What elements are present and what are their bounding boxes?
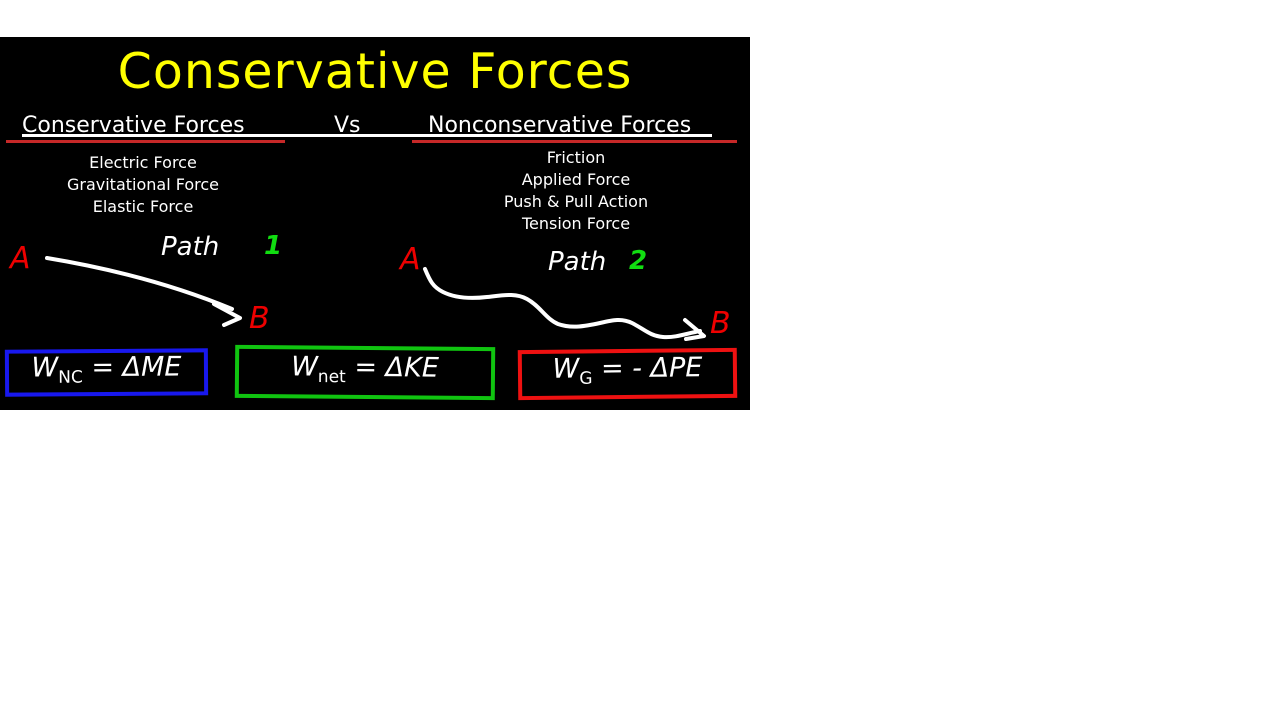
- path-1-line: [47, 258, 232, 309]
- path-2-line: [425, 269, 700, 337]
- equation-box-wnc: WNC = ΔME: [5, 348, 208, 396]
- path-2-end-label: B: [710, 309, 731, 339]
- path-2-label: Path: [548, 248, 606, 276]
- equation-box-wg: WG = - ΔPE: [518, 348, 738, 400]
- path-1-end-label: B: [249, 304, 270, 334]
- path-2-number: 2: [629, 247, 647, 275]
- chalkboard-slide: Conservative Forces Conservative Forces …: [0, 37, 750, 410]
- equation-wg-text: WG = - ΔPE: [552, 354, 702, 395]
- path-1-number: 1: [264, 232, 282, 260]
- equation-box-wnet: Wnet = ΔKE: [235, 345, 495, 400]
- equation-wnet-text: Wnet = ΔKE: [291, 352, 439, 393]
- equation-wnc-text: WNC = ΔME: [31, 352, 181, 392]
- path-2-start-label: A: [400, 245, 421, 275]
- path-1-start-label: A: [10, 244, 31, 274]
- path-1-label: Path: [161, 233, 219, 261]
